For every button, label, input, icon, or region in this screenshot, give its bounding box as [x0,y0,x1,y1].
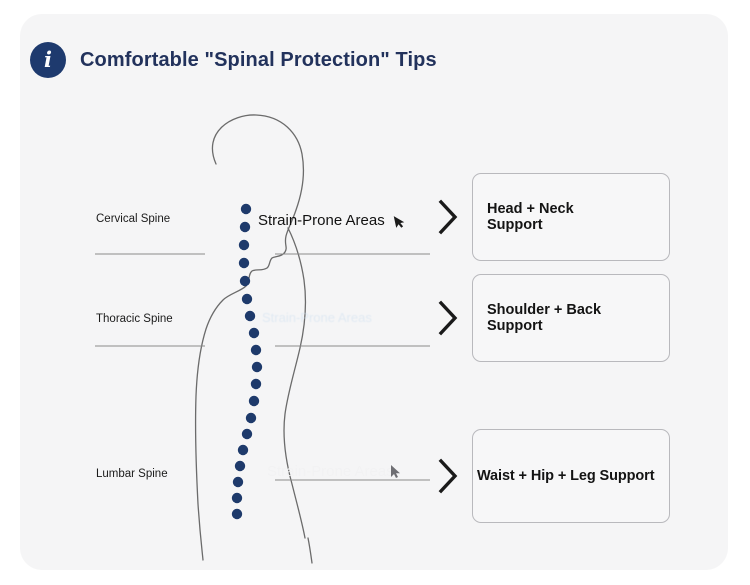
chevron-right-icon [436,296,462,340]
support-row-waist-hip-leg[interactable]: Waist + Hip + Leg Support [436,429,670,523]
support-label: Head + Neck Support [487,201,574,233]
strain-prone-label-cervical: Strain-Prone Areas [258,212,385,229]
region-label-cervical: Cervical Spine [96,213,170,225]
info-circle-icon: i [30,42,66,78]
support-box-shoulder-back[interactable]: Shoulder + Back Support [472,274,670,362]
support-label: Waist + Hip + Leg Support [477,468,654,484]
strain-prone-label-thoracic: Strain-Prone Areas [262,310,372,325]
support-row-head-neck[interactable]: Head + Neck Support [436,173,670,261]
card-header: i Comfortable "Spinal Protection" Tips [30,42,437,78]
page-title: Comfortable "Spinal Protection" Tips [80,49,437,72]
chevron-right-icon [436,454,462,498]
chevron-right-icon [436,195,462,239]
strain-prone-label-lumbar: Strain-Prone Areas [267,463,394,480]
region-label-lumbar: Lumbar Spine [96,468,168,480]
support-box-waist-hip-leg[interactable]: Waist + Hip + Leg Support [472,429,670,523]
info-letter: i [30,49,66,70]
support-box-head-neck[interactable]: Head + Neck Support [472,173,670,261]
screenshot-root: i Comfortable "Spinal Protection" Tips [0,0,750,585]
support-row-shoulder-back[interactable]: Shoulder + Back Support [436,274,670,362]
mouse-pointer-icon [390,464,401,479]
region-label-thoracic: Thoracic Spine [96,313,173,325]
support-label: Shoulder + Back Support [487,302,601,334]
